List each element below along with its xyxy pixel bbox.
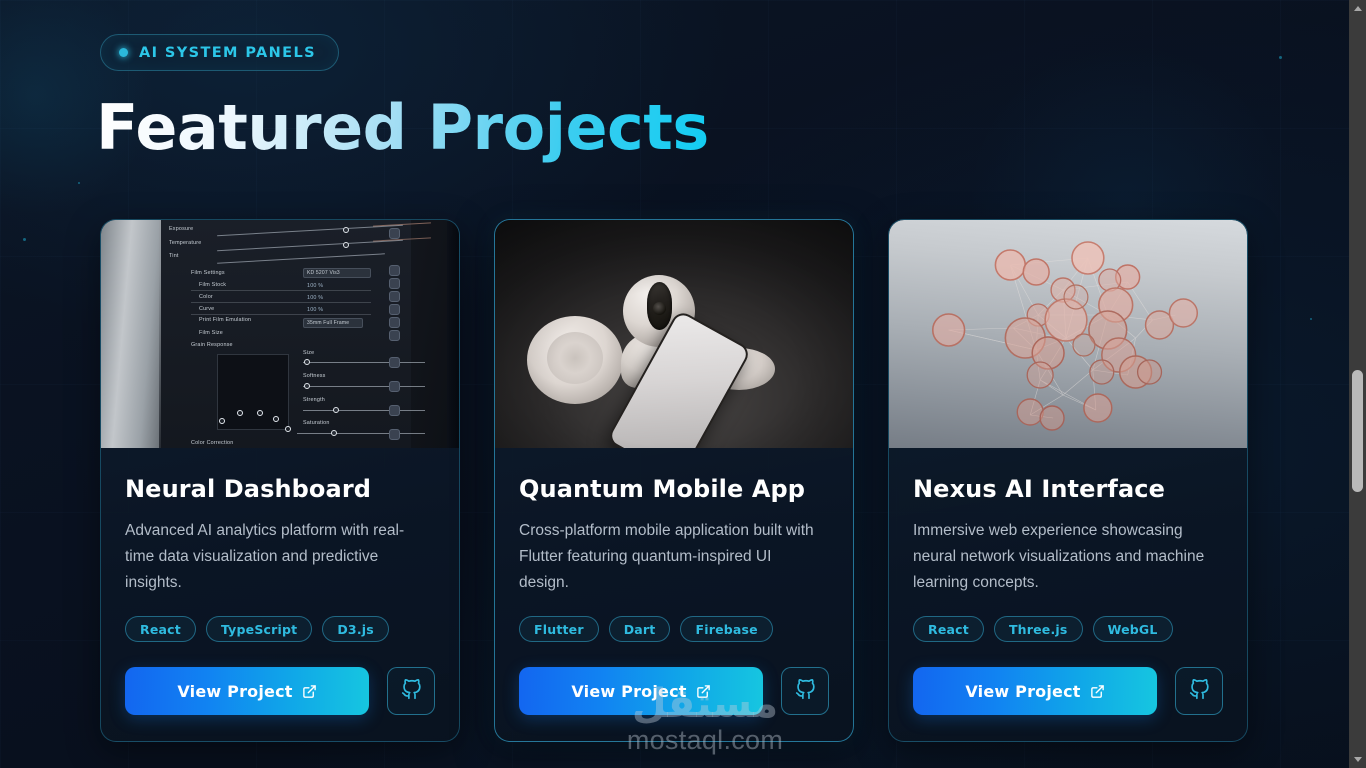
github-icon <box>1189 679 1210 703</box>
status-dot-icon <box>119 48 128 57</box>
view-project-button[interactable]: View Project <box>519 667 763 715</box>
project-description: Cross-platform mobile application built … <box>519 518 819 596</box>
section-badge-label: AI SYSTEM PANELS <box>139 45 316 61</box>
decorative-spark <box>1279 56 1282 59</box>
project-tag-list: Flutter Dart Firebase <box>519 616 829 642</box>
project-thumbnail <box>495 220 853 448</box>
project-tag-list: React Three.js WebGL <box>913 616 1223 642</box>
github-icon <box>401 679 422 703</box>
project-card-body: Nexus AI Interface Immersive web experie… <box>889 448 1247 741</box>
project-thumbnail: Exposure Temperature Tint Film Settings … <box>101 220 459 448</box>
page-root: AI SYSTEM PANELS Featured Projects Expos… <box>0 0 1366 768</box>
view-project-label: View Project <box>571 682 686 701</box>
decorative-spark <box>23 238 26 241</box>
page-title: Featured Projects <box>96 92 709 164</box>
github-link-button[interactable] <box>387 667 435 715</box>
project-title: Neural Dashboard <box>125 474 435 504</box>
thumbnail-neural-network-graph <box>889 220 1247 448</box>
project-tag[interactable]: WebGL <box>1093 616 1173 642</box>
project-tag[interactable]: Dart <box>609 616 671 642</box>
project-description: Immersive web experience showcasing neur… <box>913 518 1213 596</box>
scroll-down-arrow-icon[interactable] <box>1349 751 1366 768</box>
project-actions: View Project <box>519 667 829 715</box>
github-link-button[interactable] <box>781 667 829 715</box>
project-description: Advanced AI analytics platform with real… <box>125 518 425 596</box>
page-scrollbar[interactable] <box>1349 0 1366 768</box>
project-card[interactable]: Quantum Mobile App Cross-platform mobile… <box>494 219 854 742</box>
project-card[interactable]: Exposure Temperature Tint Film Settings … <box>100 219 460 742</box>
project-tag[interactable]: TypeScript <box>206 616 312 642</box>
view-project-button[interactable]: View Project <box>125 667 369 715</box>
project-actions: View Project <box>913 667 1223 715</box>
view-project-button[interactable]: View Project <box>913 667 1157 715</box>
project-title: Nexus AI Interface <box>913 474 1223 504</box>
section-badge: AI SYSTEM PANELS <box>100 34 339 71</box>
github-link-button[interactable] <box>1175 667 1223 715</box>
project-card-grid: Exposure Temperature Tint Film Settings … <box>100 219 1248 742</box>
project-tag[interactable]: React <box>913 616 984 642</box>
scrollbar-thumb[interactable] <box>1352 370 1363 492</box>
project-card-body: Neural Dashboard Advanced AI analytics p… <box>101 448 459 741</box>
project-thumbnail <box>889 220 1247 448</box>
external-link-icon <box>302 684 317 699</box>
project-tag[interactable]: D3.js <box>322 616 389 642</box>
project-tag[interactable]: React <box>125 616 196 642</box>
thumbnail-smart-home-devices <box>495 220 853 448</box>
project-tag-list: React TypeScript D3.js <box>125 616 435 642</box>
external-link-icon <box>696 684 711 699</box>
decorative-spark <box>78 182 80 184</box>
view-project-label: View Project <box>177 682 292 701</box>
project-card-body: Quantum Mobile App Cross-platform mobile… <box>495 448 853 741</box>
project-tag[interactable]: Three.js <box>994 616 1083 642</box>
project-actions: View Project <box>125 667 435 715</box>
project-tag[interactable]: Flutter <box>519 616 599 642</box>
project-title: Quantum Mobile App <box>519 474 829 504</box>
thumbnail-photo-editing-panel: Exposure Temperature Tint Film Settings … <box>101 220 459 448</box>
project-tag[interactable]: Firebase <box>680 616 772 642</box>
project-card[interactable]: Nexus AI Interface Immersive web experie… <box>888 219 1248 742</box>
scroll-up-arrow-icon[interactable] <box>1349 0 1366 17</box>
network-graph-svg <box>889 220 1247 448</box>
external-link-icon <box>1090 684 1105 699</box>
view-project-label: View Project <box>965 682 1080 701</box>
github-icon <box>795 679 816 703</box>
decorative-spark <box>1310 318 1312 320</box>
